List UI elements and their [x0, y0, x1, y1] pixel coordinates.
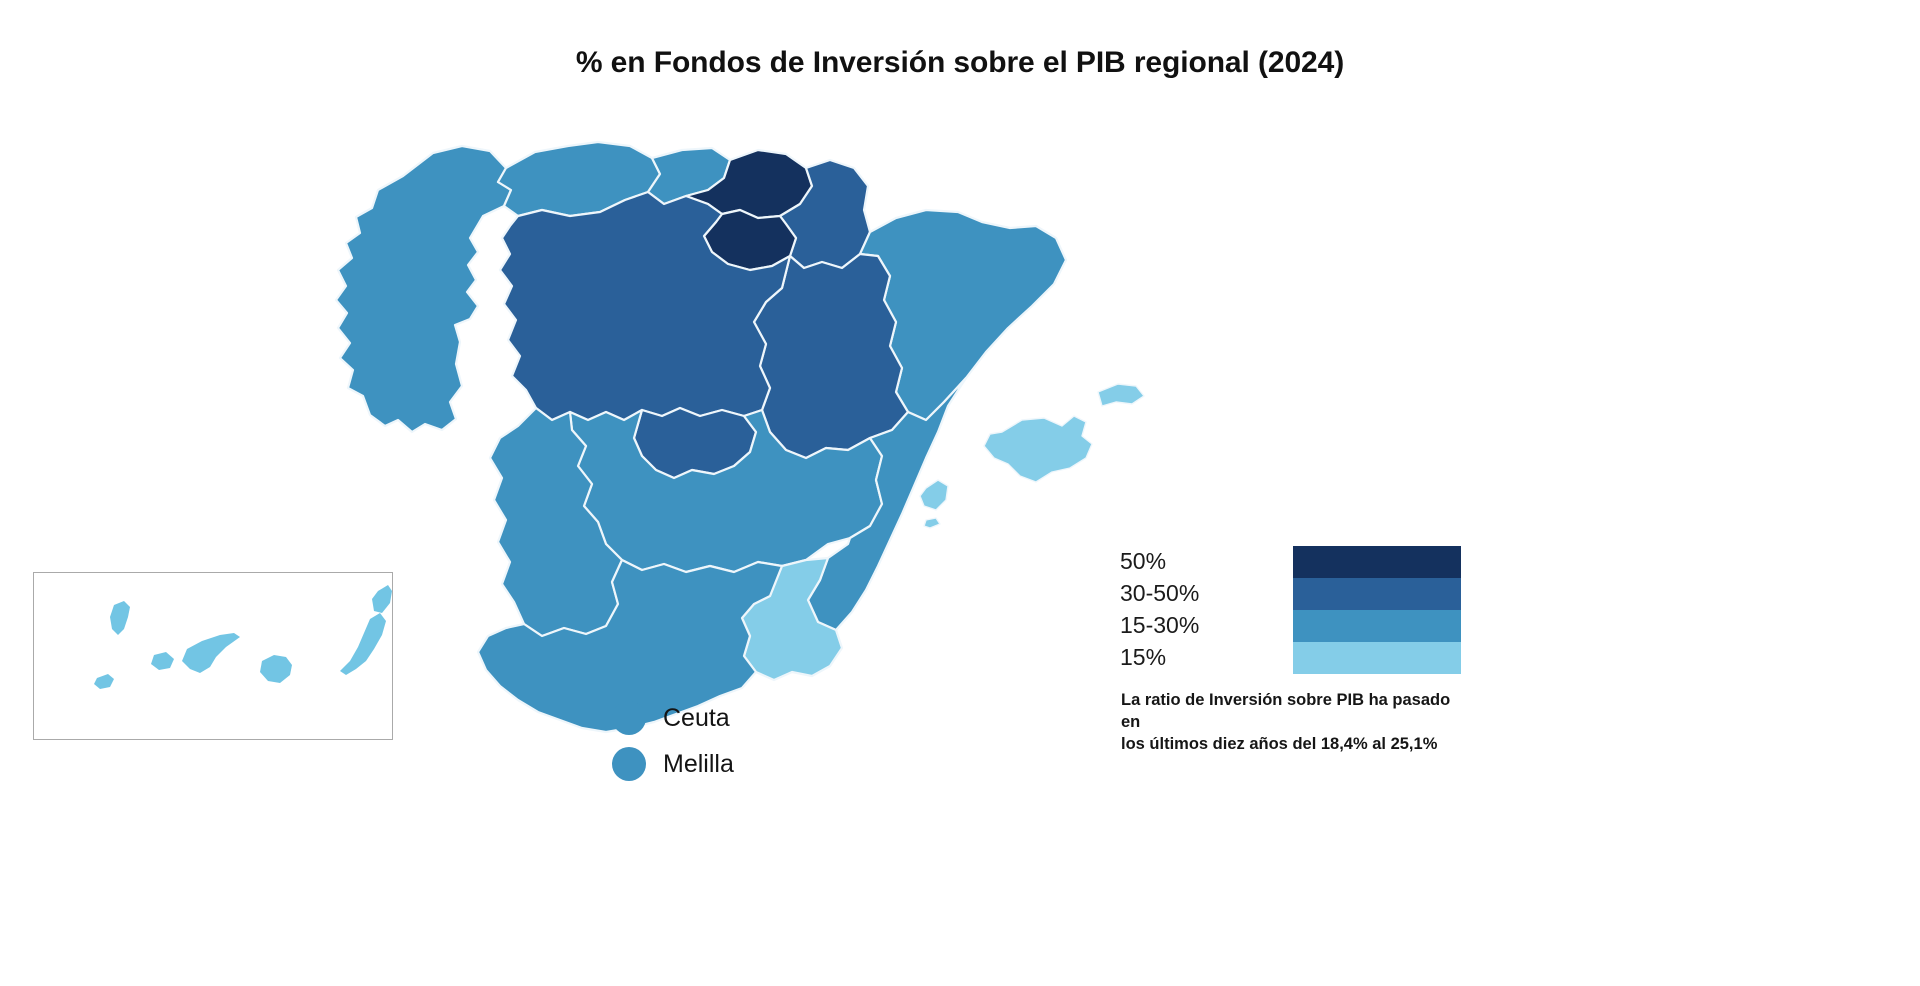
- island-formentera[interactable]: [924, 518, 940, 528]
- legend-swatch-15[interactable]: [1293, 642, 1461, 674]
- footnote-line-2: los últimos diez años del 18,4% al 25,1%: [1121, 734, 1471, 756]
- melilla-color-dot: [612, 747, 646, 781]
- island-tenerife[interactable]: [182, 633, 240, 673]
- island-el-hierro[interactable]: [94, 674, 114, 689]
- legend-swatch-50[interactable]: [1293, 546, 1461, 578]
- island-mallorca[interactable]: [984, 416, 1092, 482]
- legend-label-15-30: 15-30%: [1120, 609, 1320, 641]
- island-la-palma[interactable]: [110, 601, 130, 635]
- melilla-label: Melilla: [663, 752, 734, 777]
- ceuta-color-dot: [612, 701, 646, 735]
- footnote: La ratio de Inversión sobre PIB ha pasad…: [1121, 690, 1471, 756]
- island-gran-canaria[interactable]: [260, 655, 292, 683]
- island-ibiza[interactable]: [920, 480, 948, 510]
- island-lanzarote[interactable]: [372, 585, 392, 613]
- legend-swatch-15-30[interactable]: [1293, 610, 1461, 642]
- footnote-line-1: La ratio de Inversión sobre PIB ha pasad…: [1121, 690, 1471, 734]
- choropleth-legend: 50% 30-50% 15-30% 15%: [1120, 545, 1480, 685]
- legend-label-column: 50% 30-50% 15-30% 15%: [1120, 545, 1320, 673]
- cities-legend: Ceuta Melilla: [612, 695, 842, 787]
- legend-label-15: 15%: [1120, 641, 1320, 673]
- island-menorca[interactable]: [1098, 384, 1144, 406]
- legend-label-50: 50%: [1120, 545, 1320, 577]
- legend-label-30-50: 30-50%: [1120, 577, 1320, 609]
- legend-item-melilla[interactable]: Melilla: [612, 741, 842, 787]
- legend-swatch-30-50[interactable]: [1293, 578, 1461, 610]
- canary-islands-inset: [33, 572, 393, 740]
- map-stage: Ceuta Melilla 50% 30-50% 15-30% 15% La r…: [0, 0, 1920, 986]
- legend-swatch-column: [1293, 546, 1461, 674]
- region-galicia[interactable]: [336, 146, 511, 432]
- legend-item-ceuta[interactable]: Ceuta: [612, 695, 842, 741]
- island-la-gomera[interactable]: [151, 652, 174, 670]
- island-fuerteventura[interactable]: [340, 613, 386, 675]
- canary-islands-map: [34, 573, 392, 739]
- ceuta-label: Ceuta: [663, 706, 730, 731]
